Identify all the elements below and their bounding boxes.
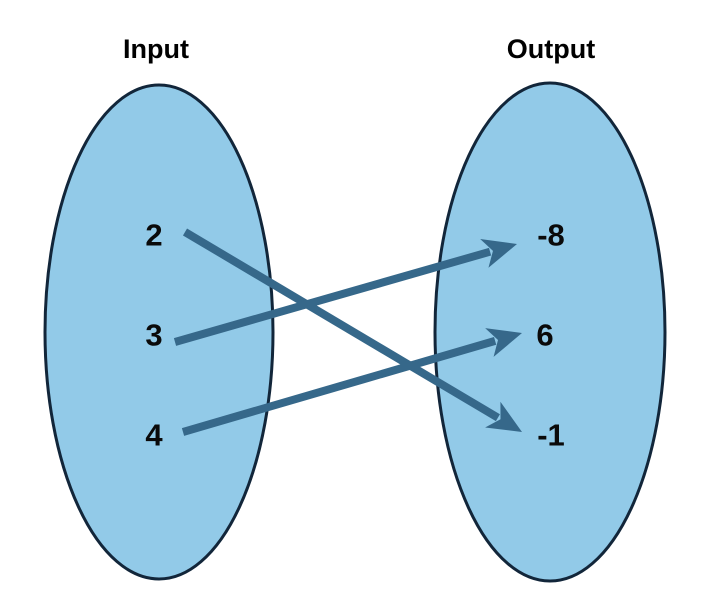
input-element-2: 4 [145, 418, 163, 453]
output-set-title: Output [507, 34, 595, 64]
mapping-diagram-svg: Input 2 3 4 Output -8 6 -1 [0, 0, 702, 608]
output-element-2: -1 [537, 418, 565, 453]
output-element-1: 6 [536, 318, 553, 353]
input-element-0: 2 [145, 218, 162, 253]
input-set-group: Input 2 3 4 [45, 34, 273, 579]
mapping-diagram-canvas: Input 2 3 4 Output -8 6 -1 [0, 0, 702, 608]
input-set-title: Input [123, 34, 189, 64]
output-element-0: -8 [537, 218, 565, 253]
output-set-group: Output -8 6 -1 [435, 34, 665, 581]
input-element-1: 3 [145, 318, 162, 353]
